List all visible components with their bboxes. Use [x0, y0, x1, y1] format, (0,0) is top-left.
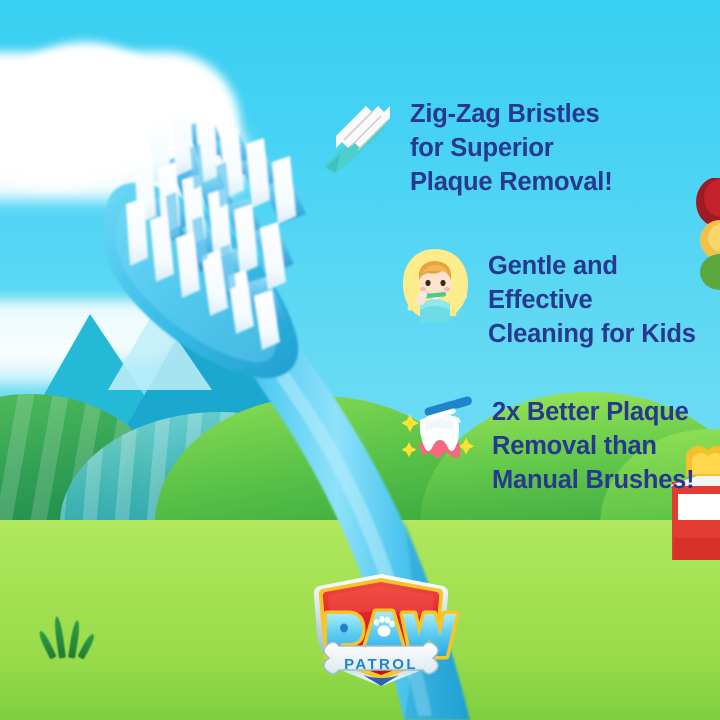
- feature-line: 2x Better Plaque: [492, 396, 694, 430]
- paw-patrol-logo: PATROL: [297, 572, 465, 688]
- feature-line: Cleaning for Kids: [488, 318, 696, 352]
- feature-line: Zig-Zag Bristles: [410, 98, 612, 132]
- feature-line: Removal than: [492, 430, 694, 464]
- kid-brushing-teeth-icon: [398, 246, 472, 324]
- feature-item-gentle-effective: Gentle and Effective Cleaning for Kids: [398, 246, 696, 352]
- feature-line: Plaque Removal!: [410, 166, 612, 200]
- cloud-base-icon: [0, 120, 250, 200]
- tooth-with-brush-icon: [402, 392, 476, 470]
- grass-tuft-icon: [48, 614, 90, 658]
- logo-patrol-text: PATROL: [344, 656, 418, 673]
- feature-line: for Superior: [410, 132, 612, 166]
- feature-text-2x-better-plaque: 2x Better Plaque Removal than Manual Bru…: [492, 392, 694, 498]
- toothbrush-bristles-icon: [320, 96, 394, 174]
- feature-line: Effective: [488, 284, 696, 318]
- feature-line: Manual Brushes!: [492, 464, 694, 498]
- feature-line: Gentle and: [488, 250, 696, 284]
- mountain-snowcap-icon: [108, 308, 212, 390]
- feature-text-gentle-effective: Gentle and Effective Cleaning for Kids: [488, 246, 696, 352]
- feature-item-2x-better-plaque: 2x Better Plaque Removal than Manual Bru…: [402, 392, 694, 498]
- feature-item-zig-zag-bristles: Zig-Zag Bristles for Superior Plaque Rem…: [320, 96, 612, 200]
- feature-text-zig-zag-bristles: Zig-Zag Bristles for Superior Plaque Rem…: [410, 96, 612, 200]
- promo-image-canvas: Zig-Zag Bristles for Superior Plaque Rem…: [0, 0, 720, 720]
